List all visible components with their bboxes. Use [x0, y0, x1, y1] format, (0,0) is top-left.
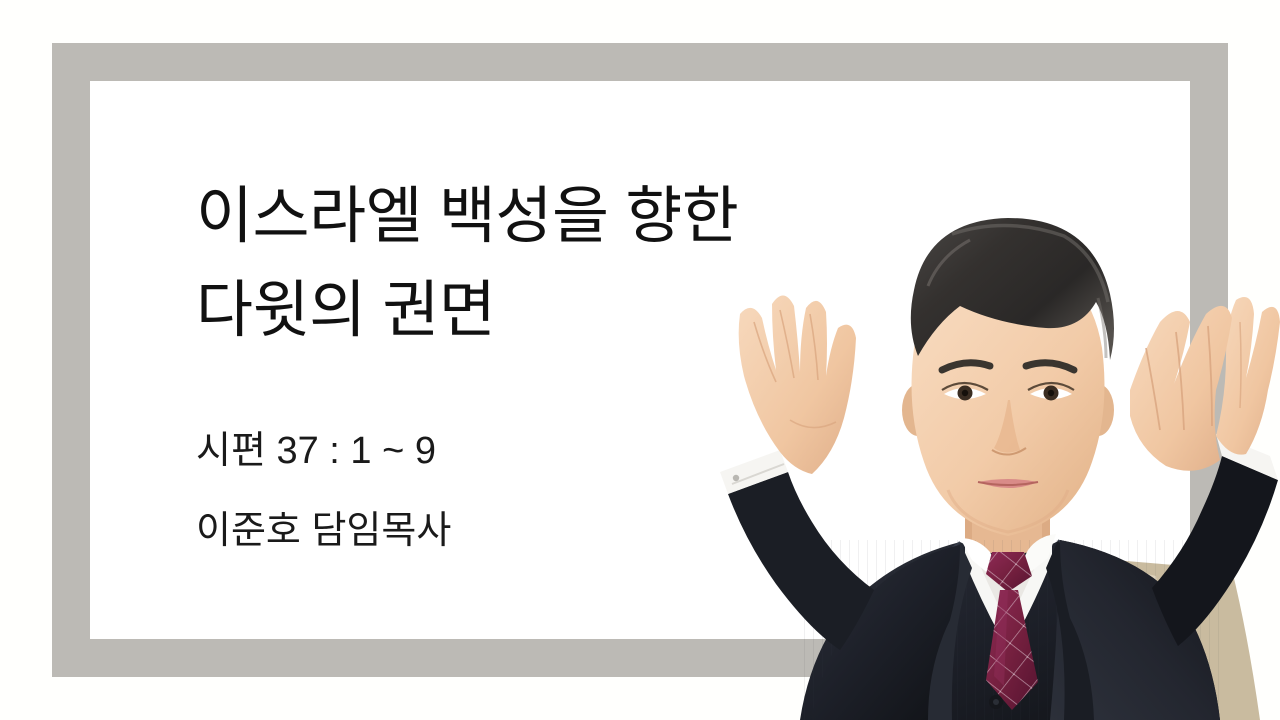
text-block: 이스라엘 백성을 향한 다윗의 권면 시편 37 : 1 ~ 9 이준호 담임목… — [196, 170, 896, 572]
jacket-button — [989, 695, 1003, 709]
sermon-subtitle: 시편 37 : 1 ~ 9 이준호 담임목사 — [196, 412, 896, 572]
speaker-name: 이준호 담임목사 — [196, 492, 896, 572]
title-line-2: 다윗의 권면 — [196, 264, 896, 358]
sermon-title: 이스라엘 백성을 향한 다윗의 권면 — [196, 170, 896, 358]
title-line-1: 이스라엘 백성을 향한 — [196, 170, 896, 264]
scripture-reference: 시편 37 : 1 ~ 9 — [196, 412, 896, 492]
slide-canvas: 이스라엘 백성을 향한 다윗의 권면 시편 37 : 1 ~ 9 이준호 담임목… — [0, 0, 1280, 720]
